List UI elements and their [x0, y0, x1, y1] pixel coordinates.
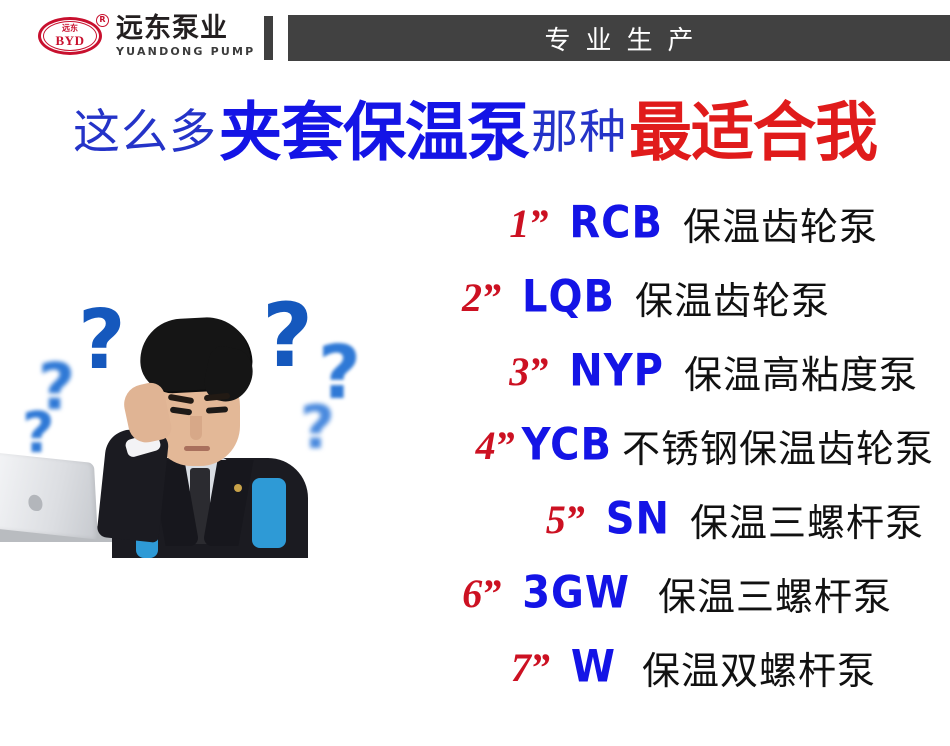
product-model: SN: [606, 493, 670, 545]
product-row[interactable]: 7” W 保温双螺杆泵: [240, 630, 940, 704]
product-description: 保温三螺杆泵: [658, 566, 892, 621]
header-banner-text: 专业生产: [288, 15, 950, 61]
mouth: [184, 446, 210, 451]
product-number: 3”: [509, 348, 547, 395]
product-model: W: [571, 641, 616, 693]
header-banner: 专业生产: [288, 15, 950, 61]
product-description: 保温齿轮泵: [683, 196, 878, 251]
page-title: 这么多 夹套保温泵 那种 最适合我: [0, 86, 950, 168]
logo-badge-cn-text: 远东: [62, 25, 78, 33]
product-row[interactable]: 6” 3GW 保温三螺杆泵: [240, 556, 940, 630]
brand-name-cn: 远东泵业: [116, 15, 255, 42]
product-number: 7”: [511, 644, 549, 691]
product-number: 1”: [509, 200, 547, 247]
product-model: RCB: [569, 197, 663, 249]
headline-part-3: 那种: [531, 93, 627, 162]
company-logo: 远东 BYD R 远东泵业 YUANDONG PUMP: [38, 12, 253, 60]
header-separator-bar: [264, 16, 273, 60]
logo-oval-inner: 远东 BYD: [43, 21, 97, 51]
lapel-pin: [234, 484, 242, 492]
headline-part-1: 这么多: [73, 93, 217, 162]
product-number: 6”: [462, 570, 500, 617]
businessman-figure: [86, 318, 326, 558]
logo-badge-en-text: BYD: [56, 34, 85, 47]
logo-wordmark: 远东泵业 YUANDONG PUMP: [116, 15, 255, 57]
product-description: 保温三螺杆泵: [690, 492, 924, 547]
laptop-logo-icon: [28, 494, 43, 512]
logo-badge: 远东 BYD R: [38, 14, 110, 58]
headline-part-4: 最适合我: [629, 81, 877, 174]
product-model: LQB: [522, 271, 615, 323]
product-row[interactable]: 1” RCB 保温齿轮泵: [240, 186, 940, 260]
laptop-lid: [0, 452, 98, 539]
headline-part-2: 夹套保温泵: [219, 81, 529, 174]
brand-name-en: YUANDONG PUMP: [116, 46, 255, 57]
product-number: 2”: [462, 274, 500, 321]
product-description: 保温齿轮泵: [635, 270, 830, 325]
registered-trademark-icon: R: [96, 14, 109, 27]
confused-businessman-photo: ? ? ? ? ? ?: [0, 278, 368, 558]
page-header: 远东 BYD R 远东泵业 YUANDONG PUMP 专业生产: [0, 0, 950, 72]
question-mark-icon: ?: [22, 406, 54, 462]
product-description: 保温双螺杆泵: [642, 640, 876, 695]
product-number: 5”: [546, 496, 584, 543]
product-description: 保温高粘度泵: [684, 344, 918, 399]
product-description: 不锈钢保温齿轮泵: [622, 418, 934, 473]
product-number: 4”: [476, 422, 514, 469]
product-model: NYP: [569, 345, 664, 397]
promo-banner-page: 远东 BYD R 远东泵业 YUANDONG PUMP 专业生产 这么多 夹套保…: [0, 0, 950, 746]
office-chair: [252, 478, 286, 548]
product-model: YCB: [522, 419, 612, 471]
nose: [190, 416, 202, 440]
product-model: 3GW: [522, 567, 630, 619]
